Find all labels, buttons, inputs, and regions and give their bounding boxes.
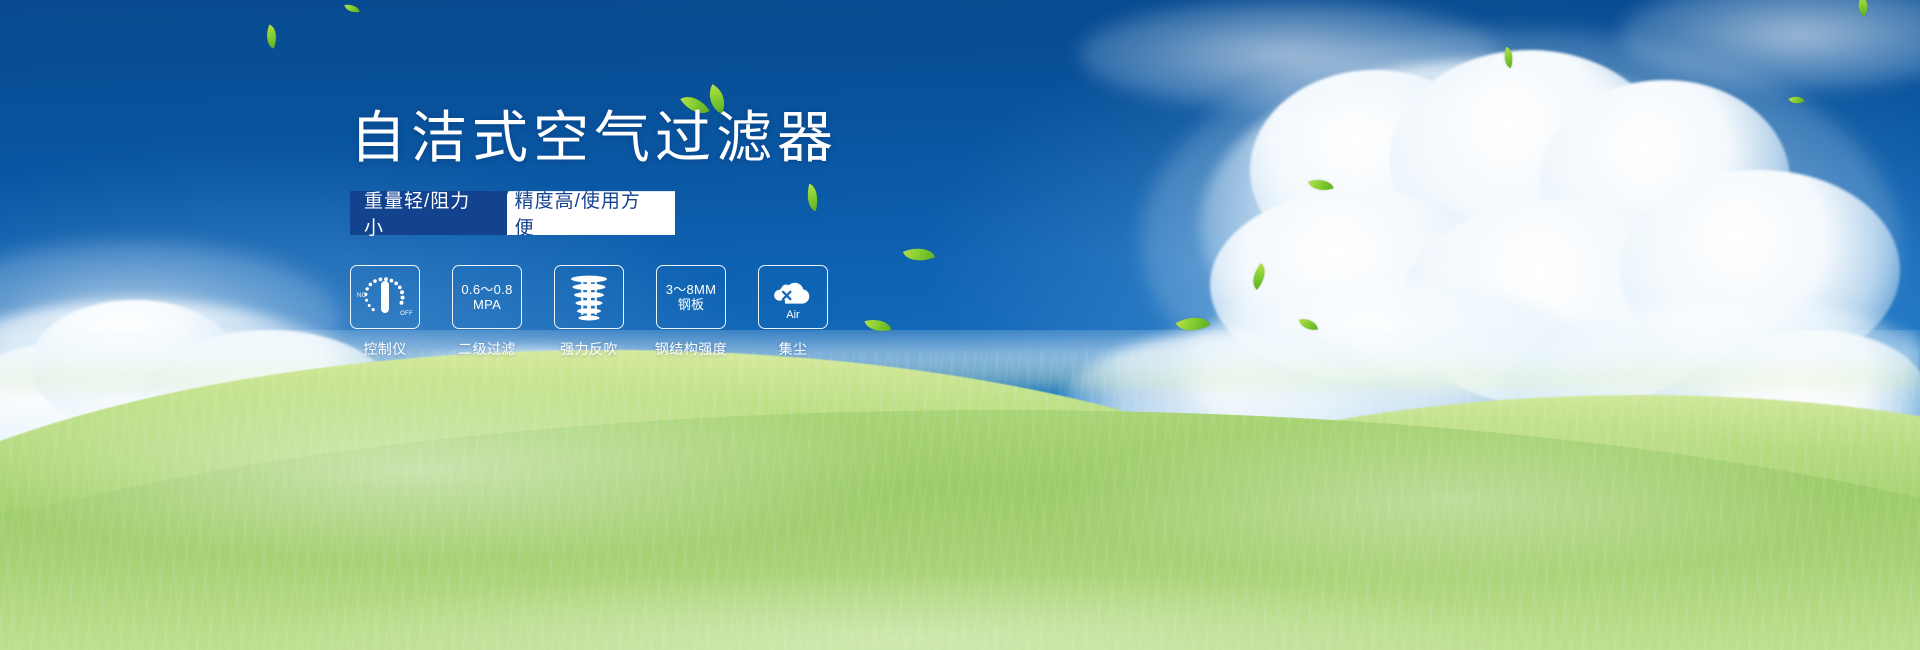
- tagline-secondary: 精度高/使用方便: [489, 191, 675, 235]
- grass-highlight: [0, 350, 1920, 650]
- feature-steel-strength: 3～8MM 钢板 钢结构强度: [656, 265, 726, 359]
- feature-list: NO OFF 控制仪 0.6～0.8 MPA 二级过滤: [350, 265, 1070, 359]
- page-title: 自洁式空气过滤器: [350, 105, 1070, 171]
- feature-strong-backblow-box: [554, 265, 624, 329]
- feature-controller-box: NO OFF: [350, 265, 420, 329]
- feature-steel-strength-label: 钢结构强度: [655, 339, 728, 359]
- feature-steel-strength-box: 3～8MM 钢板: [656, 265, 726, 329]
- feature-two-stage-filter-label: 二级过滤: [458, 339, 516, 359]
- feature-controller-label: 控制仪: [363, 339, 407, 359]
- dial-pointer-icon: [381, 281, 389, 313]
- filter-coil-icon: [567, 273, 611, 321]
- banner-content: 自洁式空气过滤器 重量轻/阻力小 精度高/使用方便: [350, 105, 1070, 359]
- feature-two-stage-filter: 0.6～0.8 MPA 二级过滤: [452, 265, 522, 359]
- air-label: Air: [766, 309, 820, 321]
- air-cloud-icon: Air: [766, 274, 820, 320]
- pressure-value-line1: 0.6～0.8: [461, 282, 512, 297]
- grass-field: [0, 330, 1920, 650]
- dial-on-label: NO: [357, 293, 367, 299]
- hero-banner: 自洁式空气过滤器 重量轻/阻力小 精度高/使用方便: [0, 0, 1920, 650]
- steel-spec-line2: 钢板: [678, 297, 705, 312]
- feature-two-stage-filter-box: 0.6～0.8 MPA: [452, 265, 522, 329]
- feature-dust-collection-box: Air: [758, 265, 828, 329]
- pressure-value-line2: MPA: [473, 297, 501, 312]
- dial-gauge-icon: NO OFF: [358, 274, 412, 320]
- feature-strong-backblow-label: 强力反吹: [560, 339, 618, 359]
- cloud-shape-icon: [766, 274, 820, 314]
- feature-controller: NO OFF 控制仪: [350, 265, 420, 359]
- dial-off-label: OFF: [400, 311, 413, 317]
- steel-spec-line1: 3～8MM: [666, 282, 717, 297]
- feature-dust-collection-label: 集尘: [779, 339, 808, 359]
- tagline-primary: 重量轻/阻力小: [350, 191, 507, 235]
- feature-dust-collection: Air 集尘: [758, 265, 828, 359]
- tagline-group: 重量轻/阻力小 精度高/使用方便: [350, 191, 675, 235]
- feature-strong-backblow: 强力反吹: [554, 265, 624, 359]
